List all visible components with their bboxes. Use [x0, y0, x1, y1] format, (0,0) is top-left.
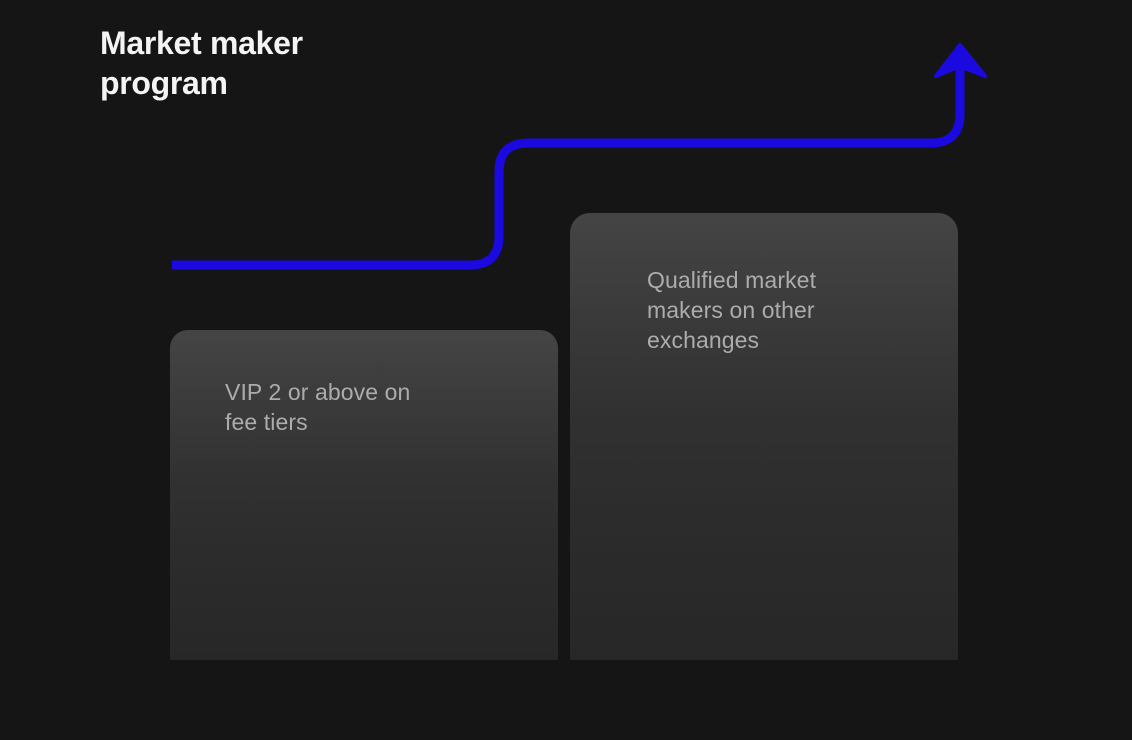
page-title: Market maker program [100, 23, 560, 103]
bar-qualified-market-makers-label: Qualified market makers on other exchang… [647, 265, 932, 355]
bar-vip-tier-label: VIP 2 or above on fee tiers [225, 377, 532, 437]
market-maker-program-graphic: Market maker program VIP 2 or above on f… [0, 0, 1132, 740]
bar-qualified-market-makers[interactable]: Qualified market makers on other exchang… [570, 213, 958, 660]
arrow-head-icon [936, 45, 985, 76]
bar-vip-tier[interactable]: VIP 2 or above on fee tiers [170, 330, 558, 660]
